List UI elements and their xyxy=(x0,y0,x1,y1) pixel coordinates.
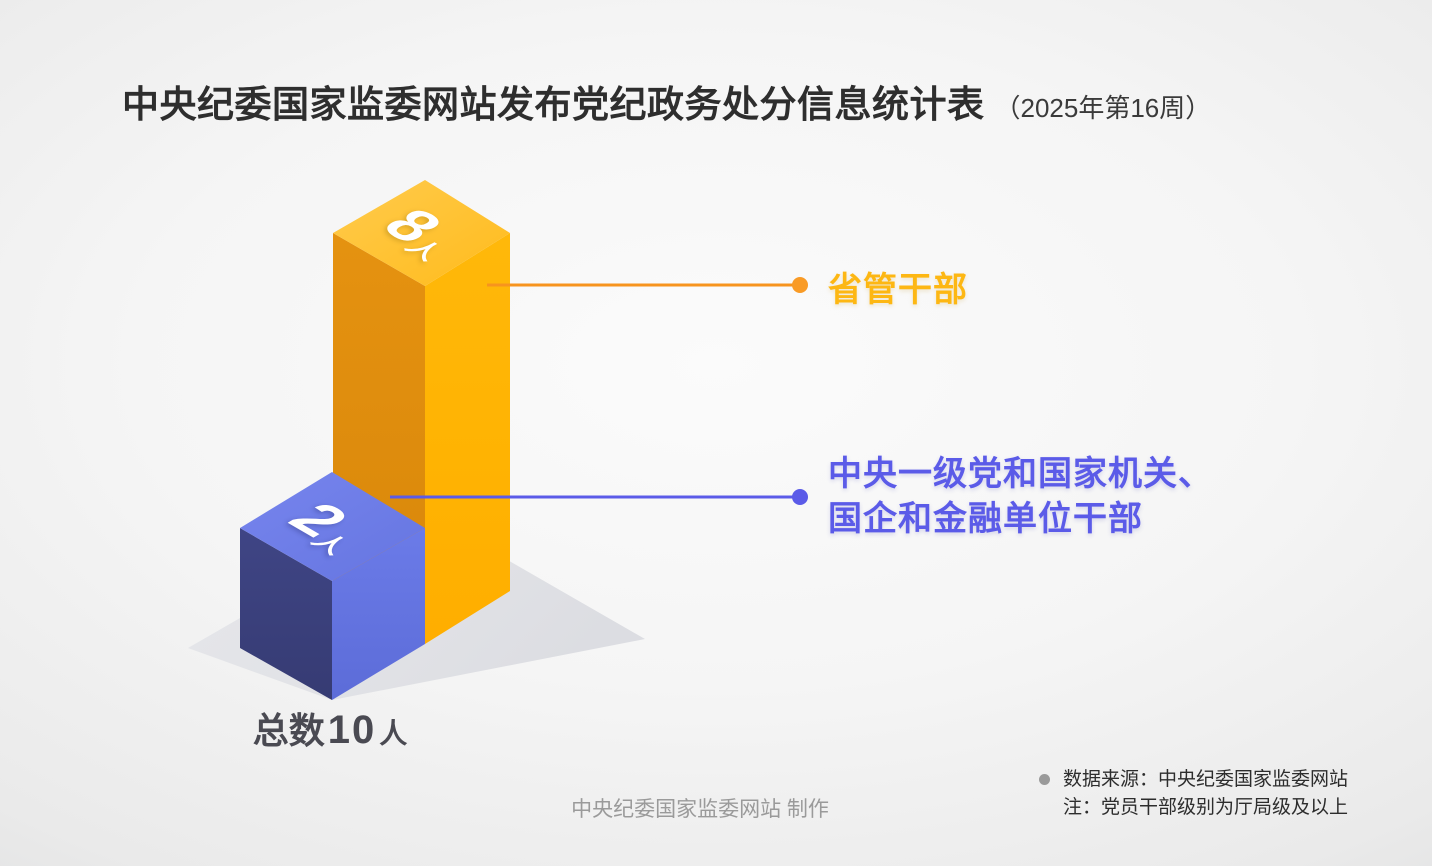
legend-label-blue-line2: 国企和金融单位干部 xyxy=(828,497,1213,542)
total-label-unit: 人 xyxy=(379,718,407,749)
blue-bar-value-number: 2 xyxy=(276,496,357,543)
source-note-lines: 数据来源：中央纪委国家监委网站 注：党员干部级别为厅局级及以上 xyxy=(1063,765,1348,821)
orange-bar-front-face xyxy=(425,233,510,644)
legend-label-orange: 省管干部 xyxy=(828,262,968,311)
isometric-bar-chart xyxy=(0,0,1432,866)
blue-leader-dot xyxy=(792,489,808,505)
producer-credit: 中央纪委国家监委网站 制作 xyxy=(571,793,829,823)
orange-leader-dot xyxy=(792,277,808,293)
total-label-number: 10 xyxy=(328,708,377,752)
orange-bar-value-number: 8 xyxy=(370,202,451,249)
legend-label-blue: 中央一级党和国家机关、 国企和金融单位干部 xyxy=(828,452,1213,542)
data-note-text: 注：党员干部级别为厅局级及以上 xyxy=(1063,793,1348,821)
total-label-text: 总数 xyxy=(253,710,325,751)
total-label: 总数10人 xyxy=(253,702,408,754)
infographic-canvas: 中央纪委国家监委网站发布党纪政务处分信息统计表 （2025年第16周） xyxy=(0,0,1432,866)
source-note: 数据来源：中央纪委国家监委网站 注：党员干部级别为厅局级及以上 xyxy=(1039,765,1348,821)
legend-label-blue-line1: 中央一级党和国家机关、 xyxy=(828,452,1213,497)
bullet-icon xyxy=(1039,774,1050,785)
data-source-text: 数据来源：中央纪委国家监委网站 xyxy=(1063,765,1348,793)
